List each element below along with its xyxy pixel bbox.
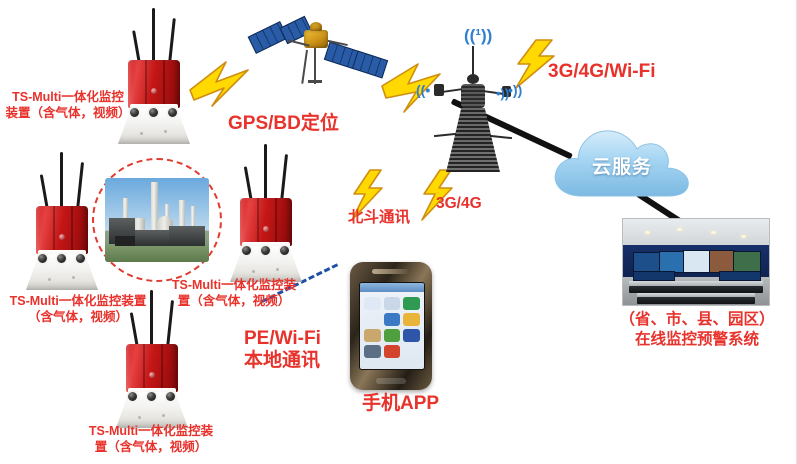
app-icon[interactable] xyxy=(364,313,381,326)
app-icon[interactable] xyxy=(403,329,420,342)
label-mobile-app: 手机APP xyxy=(362,392,439,416)
app-icon[interactable] xyxy=(384,297,401,310)
label-gps-bd: GPS/BD定位 xyxy=(228,112,339,136)
monitoring-device-bottom xyxy=(104,288,200,438)
refinery-photo xyxy=(105,178,209,262)
signal-wave-tower-far-right: •)) xyxy=(496,86,509,101)
monitoring-center-image xyxy=(622,218,770,306)
pda-app-grid[interactable] xyxy=(360,292,424,363)
app-icon[interactable] xyxy=(364,297,381,310)
app-icon[interactable] xyxy=(403,297,420,310)
app-icon[interactable] xyxy=(364,329,381,342)
cloud-service: 云服务 xyxy=(548,118,696,204)
signal-wave-left: ((• xyxy=(416,82,430,98)
pda-screen[interactable] xyxy=(359,282,425,370)
label-3g4g: 3G/4G xyxy=(436,194,482,213)
label-tower-uplink: 3G/4G/Wi-Fi xyxy=(548,60,656,84)
monitoring-device-mid-center xyxy=(218,142,314,292)
diagram-canvas: ((¹)) ((• •)) •)) xyxy=(0,0,797,464)
pda-status-bar xyxy=(360,283,424,292)
monitoring-device-mid-left xyxy=(14,150,110,300)
monitoring-device-top-left xyxy=(106,4,202,154)
mobile-app-device[interactable] xyxy=(350,262,432,390)
app-icon[interactable] xyxy=(384,313,401,326)
label-local-comm: PE/Wi-Fi 本地通讯 xyxy=(244,328,321,372)
app-icon[interactable] xyxy=(364,345,381,358)
signal-wave-top: ((¹)) xyxy=(464,26,492,46)
satellite xyxy=(248,8,398,108)
refinery-site-circle xyxy=(92,158,222,282)
label-device-top-left: TS-Multi一体化监控 装置（含气体，视频） xyxy=(2,90,134,121)
pda-home-button[interactable] xyxy=(376,378,406,384)
cloud-label: 云服务 xyxy=(548,152,696,179)
app-icon[interactable] xyxy=(384,345,401,358)
label-beidou: 北斗通讯 xyxy=(348,208,410,227)
pda-speaker xyxy=(372,269,410,274)
label-device-bottom: TS-Multi一体化监控装 置（含气体，视频） xyxy=(76,424,226,455)
label-monitoring-center: （省、市、县、园区） 在线监控预警系统 xyxy=(614,310,780,350)
app-icon[interactable] xyxy=(384,329,401,342)
app-icon xyxy=(403,345,420,358)
app-icon[interactable] xyxy=(403,313,420,326)
signal-wave-right: •)) xyxy=(508,82,522,98)
